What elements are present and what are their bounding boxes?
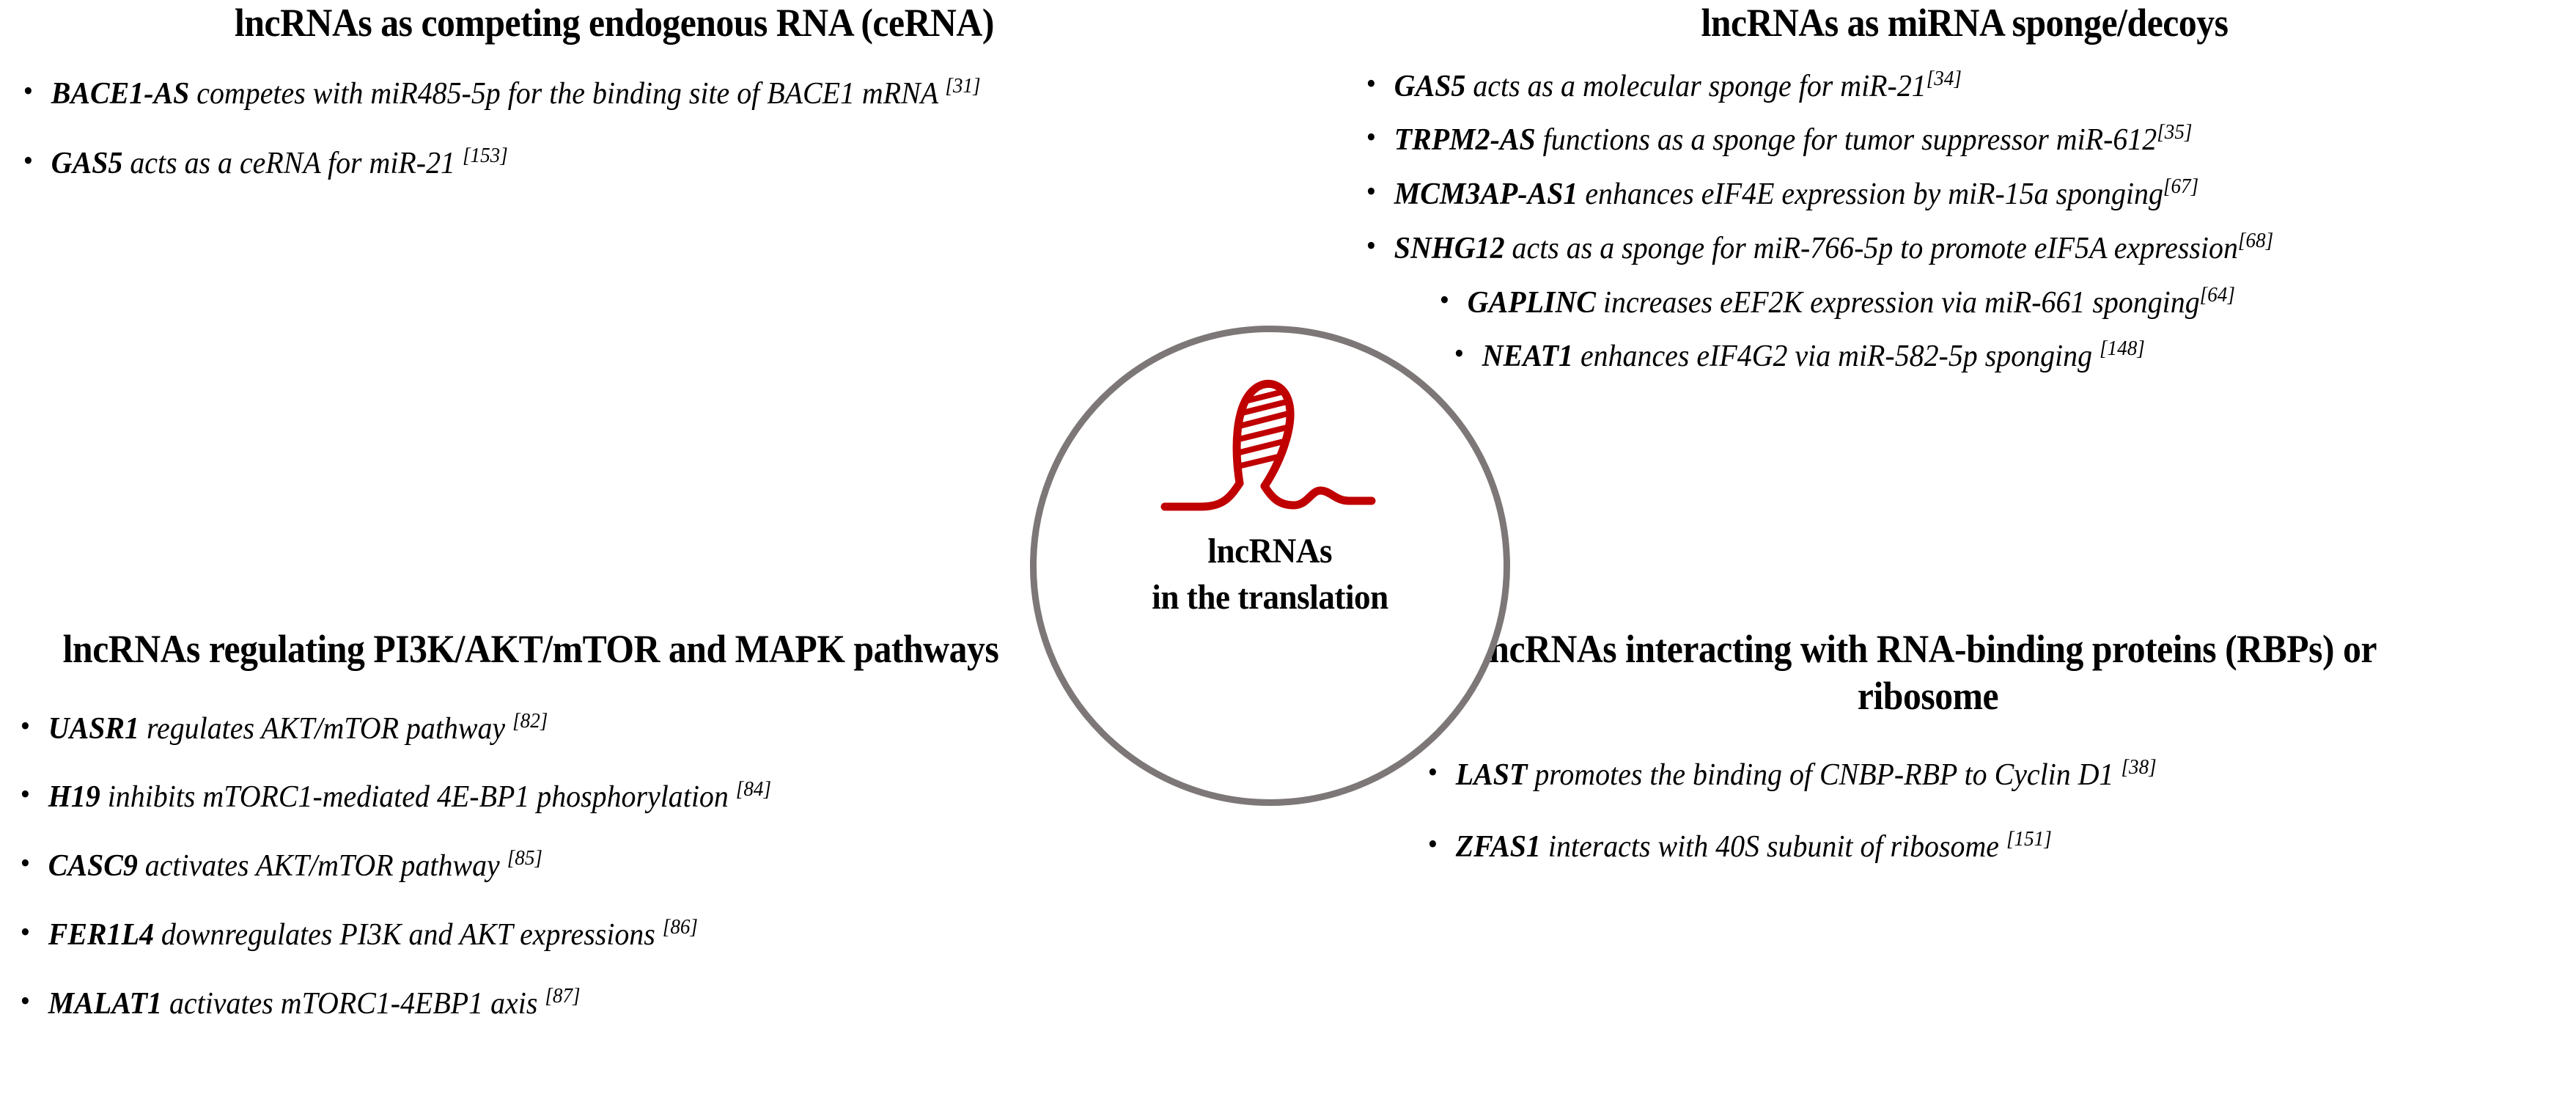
citation-ref: [31]: [945, 75, 980, 98]
bullet-text: acts as a ceRNA for miR-21: [122, 147, 463, 180]
bullet-item: CASC9 activates AKT/mTOR pathway [85]: [18, 845, 993, 887]
gene-name: UASR1: [48, 712, 139, 746]
gene-name: LAST: [1456, 758, 1528, 792]
citation-ref: [85]: [507, 847, 542, 870]
panel-cerna: lncRNAs as competing endogenous RNA (ceR…: [21, 0, 1208, 213]
bullet-item: MCM3AP-AS1 enhances eIF4E expression by …: [1364, 174, 2506, 215]
citation-ref: [34]: [1927, 67, 1962, 90]
citation-ref: [87]: [545, 985, 580, 1008]
gene-name: FER1L4: [48, 918, 154, 952]
panel-pathways-bullet-list: UASR1 regulates AKT/mTOR pathway [82]H19…: [18, 708, 1044, 1024]
gene-name: NEAT1: [1482, 340, 1573, 373]
bullet-item: GAPLINC increases eEF2K expression via m…: [1437, 282, 2509, 323]
center-label-line2: in the translation: [1152, 576, 1388, 620]
bullet-text: acts as a molecular sponge for miR-21: [1465, 70, 1926, 103]
gene-name: TRPM2-AS: [1394, 123, 1536, 157]
gene-name: GAS5: [1394, 70, 1466, 103]
gene-name: MCM3AP-AS1: [1394, 177, 1578, 211]
bullet-text: enhances eIF4E expression by miR-15a spo…: [1578, 177, 2163, 211]
citation-ref: [84]: [736, 778, 771, 801]
center-label-line1: lncRNAs: [1208, 530, 1333, 573]
gene-name: MALAT1: [48, 987, 162, 1021]
gene-name: GAPLINC: [1468, 286, 1596, 320]
bullet-text: acts as a sponge for miR-766-5p to promo…: [1505, 232, 2238, 265]
panel-rbp-bullet-list: LAST promotes the binding of CNBP-RBP to…: [1418, 755, 2441, 867]
bullet-item: UASR1 regulates AKT/mTOR pathway [82]: [18, 708, 993, 749]
bullet-item: LAST promotes the binding of CNBP-RBP to…: [1425, 755, 2391, 796]
center-hub-circle: lncRNAs in the translation: [1030, 326, 1510, 806]
panel-cerna-bullet-list: BACE1-AS competes with miR485-5p for the…: [21, 73, 1208, 185]
bullet-text: promotes the binding of CNBP-RBP to Cycl…: [1527, 758, 2121, 792]
panel-sponge-bullet-list: GAS5 acts as a molecular sponge for miR-…: [1364, 66, 2566, 378]
bullet-text: regulates AKT/mTOR pathway: [139, 712, 512, 746]
panel-cerna-title: lncRNAs as competing endogenous RNA (ceR…: [68, 0, 1160, 47]
bullet-text: functions as a sponge for tumor suppress…: [1536, 123, 2157, 157]
gene-name: SNHG12: [1394, 232, 1505, 265]
citation-ref: [148]: [2100, 337, 2145, 360]
gene-name: BACE1-AS: [51, 77, 190, 111]
gene-name: GAS5: [51, 147, 123, 180]
panel-sponge: lncRNAs as miRNA sponge/decoys GAS5 acts…: [1364, 0, 2566, 390]
bullet-text: enhances eIF4G2 via miR-582-5p sponging: [1573, 340, 2100, 373]
bullet-item: H19 inhibits mTORC1-mediated 4E-BP1 phos…: [18, 777, 993, 818]
gene-name: CASC9: [48, 849, 138, 883]
citation-ref: [67]: [2163, 175, 2198, 198]
citation-ref: [64]: [2200, 284, 2235, 307]
bullet-item: SNHG12 acts as a sponge for miR-766-5p t…: [1364, 228, 2506, 269]
citation-ref: [153]: [463, 144, 508, 167]
bullet-item: NEAT1 enhances eIF4G2 via miR-582-5p spo…: [1451, 336, 2510, 377]
bullet-item: ZFAS1 interacts with 40S subunit of ribo…: [1425, 826, 2391, 867]
citation-ref: [38]: [2121, 756, 2156, 779]
citation-ref: [82]: [512, 710, 548, 733]
panel-rbp-title: lncRNAs interacting with RNA-binding pro…: [1456, 626, 2400, 719]
citation-ref: [86]: [663, 916, 698, 939]
bullet-item: MALAT1 activates mTORC1-4EBP1 axis [87]: [18, 983, 993, 1024]
citation-ref: [68]: [2238, 230, 2273, 252]
bullet-text: downregulates PI3K and AKT expressions: [154, 918, 663, 952]
bullet-item: BACE1-AS competes with miR485-5p for the…: [21, 73, 1152, 114]
panel-rbp: lncRNAs interacting with RNA-binding pro…: [1415, 626, 2441, 898]
gene-name: ZFAS1: [1456, 830, 1541, 864]
bullet-item: TRPM2-AS functions as a sponge for tumor…: [1364, 120, 2506, 161]
bullet-text: competes with miR485-5p for the binding …: [189, 77, 945, 111]
gene-name: H19: [48, 780, 100, 814]
panel-sponge-title: lncRNAs as miRNA sponge/decoys: [1412, 0, 2518, 47]
panel-pathways-title: lncRNAs regulating PI3K/AKT/mTOR and MAP…: [59, 626, 1003, 673]
rna-hairpin-icon: [1160, 375, 1380, 514]
bullet-text: activates mTORC1-4EBP1 axis: [162, 987, 545, 1021]
bullet-text: interacts with 40S subunit of ribosome: [1541, 830, 2006, 864]
bullet-item: GAS5 acts as a molecular sponge for miR-…: [1364, 66, 2506, 107]
panel-pathways: lncRNAs regulating PI3K/AKT/mTOR and MAP…: [18, 626, 1044, 1052]
bullet-text: activates AKT/mTOR pathway: [138, 849, 507, 883]
citation-ref: [151]: [2006, 828, 2052, 851]
bullet-item: FER1L4 downregulates PI3K and AKT expres…: [18, 914, 993, 955]
citation-ref: [35]: [2157, 121, 2192, 144]
bullet-text: increases eEF2K expression via miR-661 s…: [1596, 286, 2200, 320]
bullet-item: GAS5 acts as a ceRNA for miR-21 [153]: [21, 143, 1152, 184]
bullet-text: inhibits mTORC1-mediated 4E-BP1 phosphor…: [100, 780, 736, 814]
